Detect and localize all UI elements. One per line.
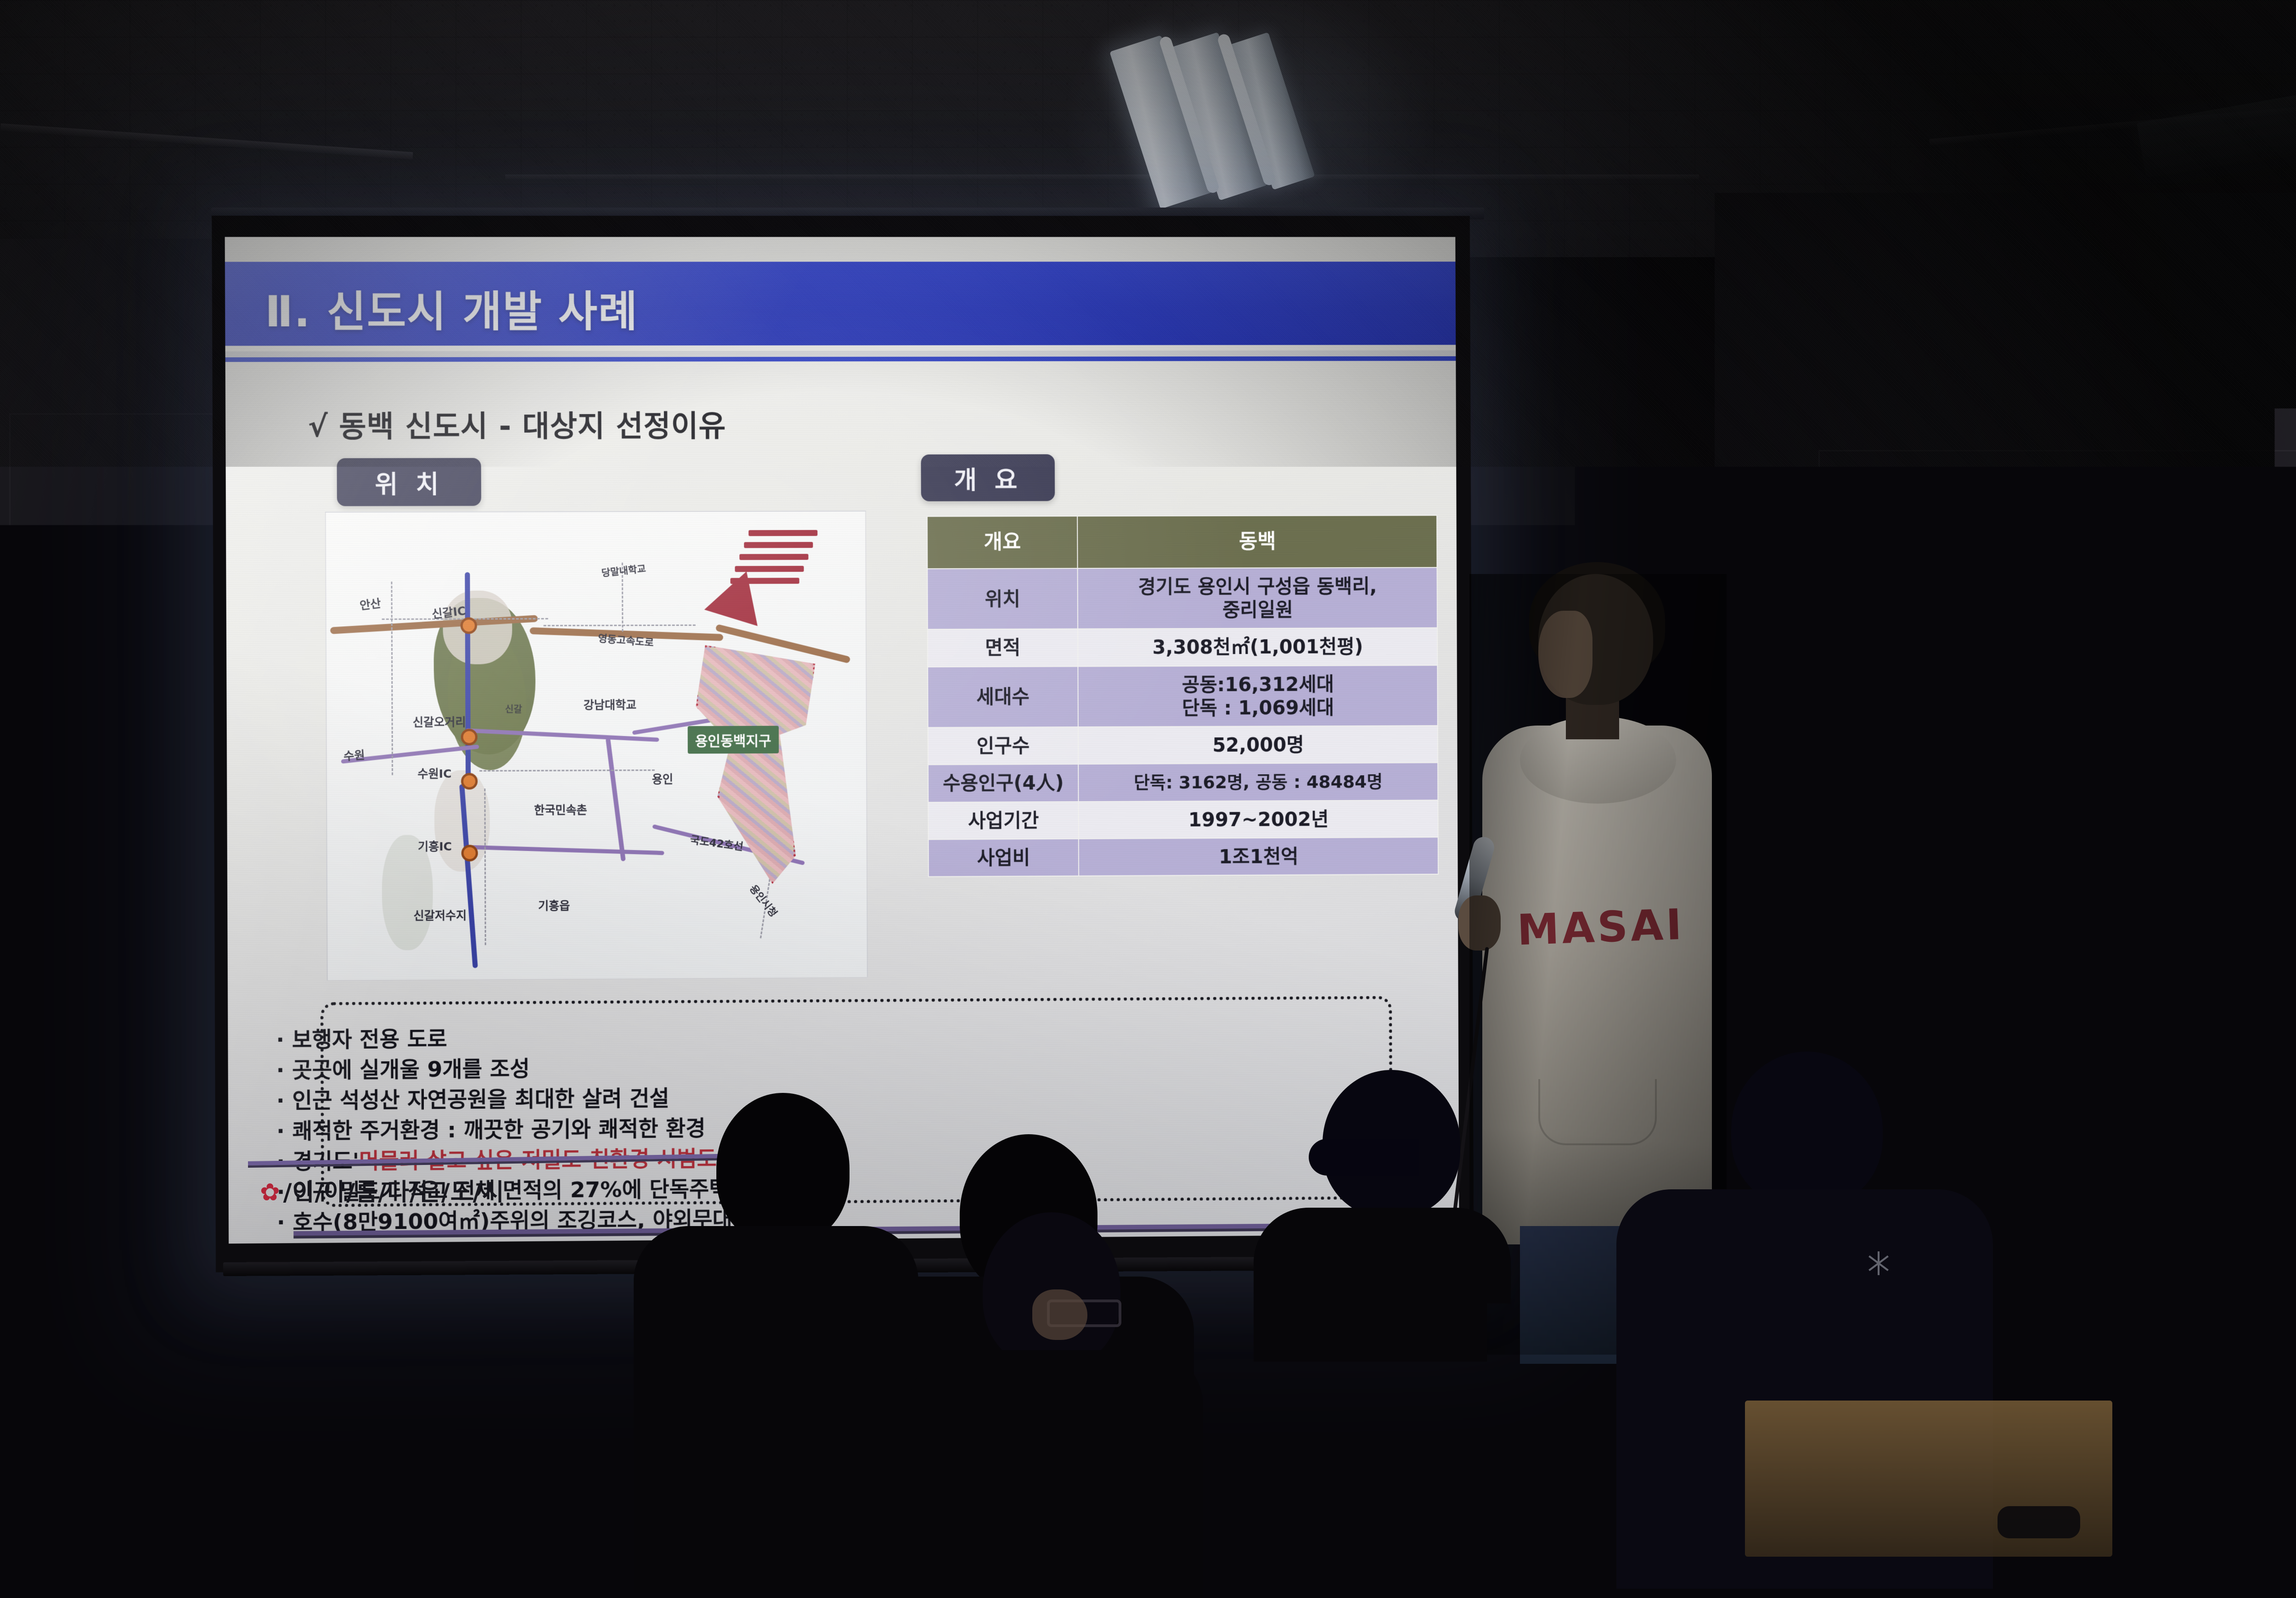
bullet-item: · 보행자 전용 도로 xyxy=(276,1021,447,1054)
map-boundary-dashed xyxy=(479,770,655,772)
foreground-person-left xyxy=(0,698,165,1203)
table-row-key: 면적 xyxy=(928,629,1078,667)
lecture-room: Ⅱ. 신도시 개발 사례 √ 동백 신도시 - 대상지 선정이유 위 치 개 요 xyxy=(0,0,2296,1587)
background-person-body xyxy=(2211,726,2296,1056)
map-label: 수원 xyxy=(343,746,366,764)
map-pointer-arrow xyxy=(704,530,820,641)
map-label: 한국민속촌 xyxy=(534,801,587,818)
map-local-road xyxy=(606,737,626,861)
table-row-value: 3,308천㎡(1,001천평) xyxy=(1078,628,1437,666)
table-row: 위치 경기도 용인시 구성읍 동백리,중리일원 xyxy=(927,568,1437,630)
map-local-road xyxy=(471,845,664,855)
map-label: 기흥IC xyxy=(418,838,452,854)
map-junction-node xyxy=(461,773,478,789)
table-row-value: 단독: 3162명, 공동 : 48484명 xyxy=(1078,763,1438,801)
snowflake-icon xyxy=(1864,1249,1893,1277)
map-boundary-dashed xyxy=(544,625,696,626)
map-boundary-dashed xyxy=(391,582,393,775)
table-row-key: 사업비 xyxy=(929,839,1079,877)
bullet-item: · 곳곳에 실개울 9개를 조성 xyxy=(276,1051,529,1084)
table-row-key: 세대수 xyxy=(928,666,1078,727)
desk-object xyxy=(1998,1506,2080,1538)
cap-brim xyxy=(1309,1139,1419,1176)
audience-face xyxy=(1032,1289,1087,1340)
background-person-head xyxy=(2266,634,2296,739)
slide-footer: ✿/이/아/름/다/운/도/시 xyxy=(260,1173,504,1207)
slide-title: Ⅱ. 신도시 개발 사례 xyxy=(265,277,638,339)
badge-location: 위 치 xyxy=(337,458,481,506)
table-row-value: 52,000명 xyxy=(1078,726,1438,764)
slide-subheading: √ 동백 신도시 - 대상지 선정이유 xyxy=(308,402,726,445)
eyeglasses-icon xyxy=(28,778,101,807)
table-row: 면적 3,308천㎡(1,001천평) xyxy=(928,628,1437,667)
map-label: 안산 xyxy=(359,594,382,613)
map-label: 기흥읍 xyxy=(538,897,570,913)
bullet-item: · 인근 석성산 자연공원을 최대한 살려 건설 xyxy=(276,1080,670,1114)
table-row-value: 경기도 용인시 구성읍 동백리,중리일원 xyxy=(1078,568,1437,629)
header-rule-blue xyxy=(225,356,1456,362)
map-junction-node xyxy=(461,617,477,634)
map-label: 수원IC xyxy=(417,765,451,781)
footer-text: /이/아/름/다/운/도/시 xyxy=(283,1179,505,1206)
table-row: 수용인구(4人) 단독: 3162명, 공동 : 48484명 xyxy=(928,763,1438,802)
map-pale-area xyxy=(443,591,512,664)
eyeglass-glint xyxy=(76,783,92,793)
map-label: 신갈오거리 xyxy=(413,713,466,730)
table-row-key: 인구수 xyxy=(928,727,1078,765)
map-label: 신갈 xyxy=(505,702,522,715)
audience-member-with-cap xyxy=(1254,1070,1511,1589)
table-row-value: 1997~2002년 xyxy=(1079,800,1438,838)
map-label: 강남대학교 xyxy=(584,696,637,713)
map-label: 국도42호선 xyxy=(689,831,744,854)
foreground-person-body xyxy=(0,840,138,1208)
map-junction-node xyxy=(461,729,478,745)
table-row: 사업기간 1997~2002년 xyxy=(928,800,1438,839)
map-junction-node xyxy=(461,845,478,861)
front-desk xyxy=(0,1368,689,1396)
table-header-cell: 개요 xyxy=(927,516,1078,569)
audience-member-with-glasses xyxy=(909,1212,1203,1589)
table-row-key: 사업기간 xyxy=(928,801,1078,839)
table-row: 인구수 52,000명 xyxy=(928,726,1438,765)
table-header-row: 개요 동백 xyxy=(927,515,1437,568)
table-row-value: 공동:16,312세대단독 : 1,069세대 xyxy=(1078,665,1437,727)
location-map: 안산 신갈IC 당말내학교 영동고속도로 수원 신갈오거리 수원IC 강남대학교… xyxy=(325,511,868,981)
map-zone-tag: 용인동백지구 xyxy=(688,726,779,754)
overview-table: 개요 동백 위치 경기도 용인시 구성읍 동백리,중리일원 면적 3,308천㎡… xyxy=(927,515,1439,877)
map-label: 당말내학교 xyxy=(601,561,647,580)
badge-overview: 개 요 xyxy=(921,454,1055,501)
foreground-person-hair xyxy=(0,698,124,827)
table-header-cell: 동백 xyxy=(1077,515,1437,568)
map-label: 신갈저수지 xyxy=(413,906,467,923)
map-national-road xyxy=(465,572,471,788)
map-label: 용인 xyxy=(652,771,673,787)
flower-icon: ✿ xyxy=(260,1179,281,1206)
table-row: 사업비 1조1천억 xyxy=(929,837,1438,877)
background-person-right xyxy=(2206,634,2296,1047)
table-row-key: 위치 xyxy=(927,568,1078,630)
table-row-value: 1조1천억 xyxy=(1079,837,1438,876)
table-row-key: 수용인구(4人) xyxy=(928,764,1078,802)
table-row: 세대수 공동:16,312세대단독 : 1,069세대 xyxy=(928,665,1438,727)
